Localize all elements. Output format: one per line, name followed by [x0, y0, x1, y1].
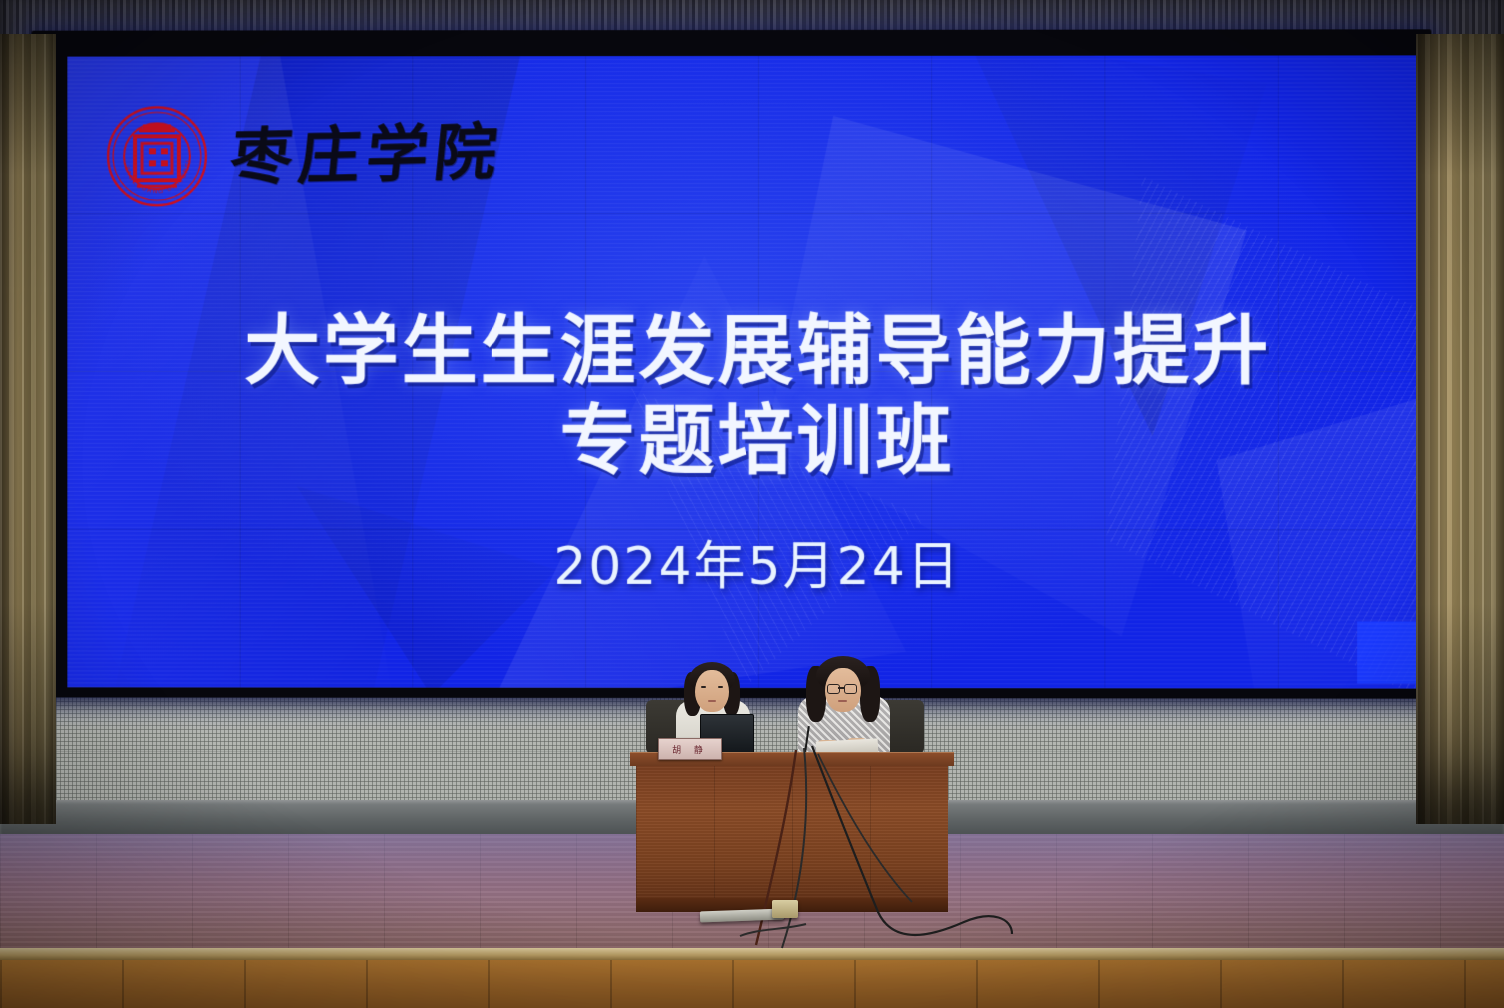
- cable-bundle: [560, 740, 1080, 970]
- university-seal-icon: ZAOZHUANG UNIVERSITY: [105, 104, 209, 208]
- university-name-calligraphy: 枣庄学院: [227, 122, 505, 190]
- slide-title-line-2: 专题培训班: [67, 396, 1449, 486]
- presenter-right-mouth: [838, 700, 847, 702]
- slide-title-line-1: 大学生生涯发展辅导能力提升: [244, 306, 1271, 395]
- led-screen-bezel: ZAOZHUANG UNIVERSITY 枣庄学院 大学生生涯发展辅导能力提升 …: [31, 29, 1431, 698]
- presenter-left-mouth: [708, 700, 716, 702]
- eyeglasses-icon: [827, 684, 859, 693]
- university-logo-lockup: ZAOZHUANG UNIVERSITY 枣庄学院: [105, 104, 502, 208]
- auditorium-photo: ZAOZHUANG UNIVERSITY 枣庄学院 大学生生涯发展辅导能力提升 …: [0, 0, 1504, 1008]
- stage-curtain-left: [0, 34, 56, 824]
- stage-curtain-right: [1416, 34, 1504, 824]
- slide-date: 2024年5月24日: [67, 524, 1449, 600]
- presenter-left-head: [695, 670, 729, 712]
- power-adapter: [772, 900, 798, 918]
- led-screen: ZAOZHUANG UNIVERSITY 枣庄学院 大学生生涯发展辅导能力提升 …: [67, 55, 1449, 688]
- slide-title: 大学生生涯发展辅导能力提升 专题培训班: [67, 306, 1449, 486]
